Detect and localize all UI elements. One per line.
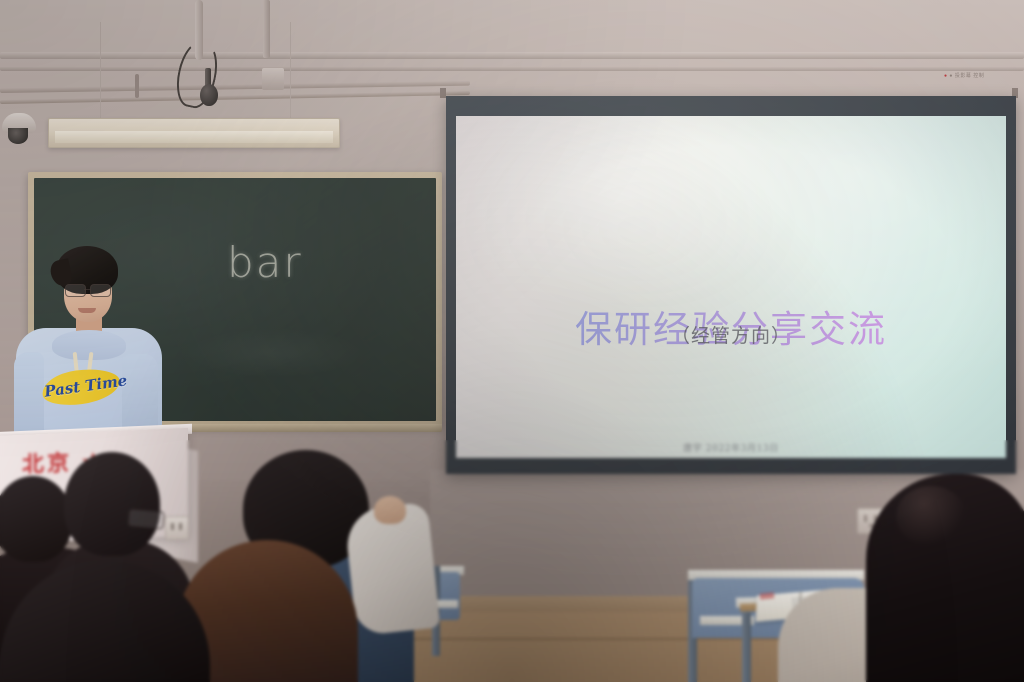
eyeglasses-icon: [127, 508, 164, 529]
ceiling-conduit-pipe: [0, 66, 1024, 71]
presenter-smile: [78, 308, 96, 313]
chalk-smudge: [184, 328, 364, 378]
classroom-photo: bar ● ● 投影幕 控制 保研经验分享交流 （经管方向） 唐宇 2022年3…: [0, 0, 1024, 682]
security-camera-dome: [8, 128, 28, 144]
desk-leg: [742, 612, 751, 682]
outlet-slot: [864, 515, 867, 522]
projection-screen-frame: 保研经验分享交流 （经管方向） 唐宇 2022年3月13日: [446, 96, 1016, 474]
screen-control-label: ● ● 投影幕 控制: [944, 72, 984, 79]
projection-screen-surface: 保研经验分享交流 （经管方向） 唐宇 2022年3月13日: [456, 116, 1006, 458]
conduit-drop: [135, 74, 139, 98]
ceiling-conduit-pipe: [0, 52, 1024, 59]
slide-byline: 唐宇 2022年3月13日: [456, 441, 1006, 454]
hair-highlight: [896, 486, 966, 546]
projector-hotspot: [456, 116, 808, 314]
lens-right: [90, 284, 111, 297]
fluorescent-ceiling-light: [48, 118, 340, 148]
hanging-microphone-icon: [200, 84, 218, 106]
red-dot-icon: ●: [944, 73, 948, 79]
electrical-junction-box: [262, 68, 284, 90]
light-suspension-wire: [100, 22, 101, 122]
eyeglasses-icon: [64, 284, 112, 295]
student-head: [64, 452, 160, 556]
blackboard-chalk-text: bar: [227, 238, 303, 287]
student-head: [0, 476, 72, 562]
podium-institution-text: 北京: [22, 445, 72, 479]
wall-power-outlet: [165, 516, 189, 540]
screen-vignette: [456, 116, 1006, 458]
light-suspension-wire: [290, 22, 291, 122]
slide-subtitle: （经管方向）: [456, 321, 1006, 348]
student-hand: [374, 496, 406, 524]
screen-label-text: ● 投影幕 控制: [949, 73, 984, 79]
lens-left: [65, 284, 86, 297]
vertical-conduit-pipe: [263, 0, 270, 58]
